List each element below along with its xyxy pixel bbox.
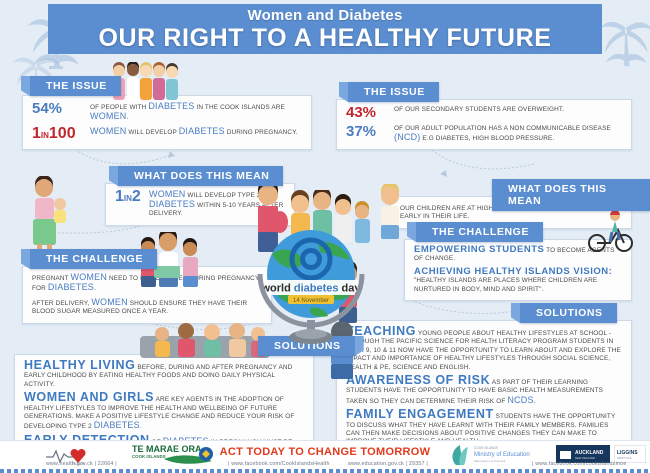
- tab-left-what-does-this-mean[interactable]: WHAT DOES THIS MEAN: [118, 166, 283, 186]
- solution-left-item-2: WOMEN AND GIRLS ARE KEY AGENTS IN THE AD…: [24, 393, 304, 432]
- stat-100-lead: 1: [32, 125, 41, 142]
- stat-2-lead: 1: [115, 188, 124, 205]
- globe-date: 14 November: [293, 298, 329, 304]
- svg-text:NEW ZEALAND: NEW ZEALAND: [575, 456, 595, 460]
- stat-text-1-in-100: WOMEN WILL DEVELOP DIABETES DURING PREGN…: [90, 127, 302, 137]
- cl2-h1: WOMEN: [91, 297, 128, 307]
- cl1-h2: DIABETES: [48, 282, 94, 292]
- palm-tree-icon-right: [595, 6, 650, 90]
- poster-footer: ACT TODAY TO CHANGE TOMORROW HEALTH TE M…: [0, 440, 650, 473]
- stat-37-h: (NCD): [394, 132, 421, 142]
- tab-right-the-issue[interactable]: THE ISSUE: [348, 82, 439, 102]
- te-marae-ora-logo: TE MARAE ORA COOK ISLANDS Ministry of He…: [128, 443, 218, 467]
- stat-value-37: 37%: [346, 125, 394, 139]
- cr1-lead: EMPOWERING STUDENTS: [414, 244, 544, 255]
- infographic-poster: Women and Diabetes OUR RIGHT TO A HEALTH…: [0, 0, 650, 473]
- svg-text:INSTITUTE: INSTITUTE: [617, 456, 632, 460]
- stat-54-mid: IN THE COOK ISLANDS ARE: [194, 104, 285, 111]
- meaning-left-h1: WOMEN: [149, 189, 186, 199]
- cl1-post: .: [94, 285, 96, 292]
- stat-row-37-percent: 37% OF OUR ADULT POPULATION HAS A NON CO…: [346, 125, 622, 143]
- illustration-family-sofa: [140, 322, 270, 358]
- footer-links-education[interactable]: www.education.gov.ck | 29357 |: [348, 461, 428, 467]
- sr2-tail-h: NCDs: [507, 395, 533, 405]
- connector-right-issue-to-meaning: [430, 148, 540, 178]
- meaning-left-h2: DIABETES: [149, 199, 195, 209]
- tab-left-the-challenge[interactable]: THE CHALLENGE: [30, 249, 157, 269]
- card-right-the-issue: 43% OF OUR SECONDARY STUDENTS ARE OVERWE…: [336, 99, 632, 150]
- stat-2-in: IN: [124, 194, 132, 203]
- poster-header: Women and Diabetes OUR RIGHT TO A HEALTH…: [48, 4, 602, 54]
- stat-100-tail: 100: [49, 125, 76, 142]
- stat-text-37: OF OUR ADULT POPULATION HAS A NON COMMUN…: [394, 125, 622, 143]
- solution-left-item-1: HEALTHY LIVING BEFORE, DURING AND AFTER …: [24, 361, 304, 389]
- stat-value-1-in-2: 1IN2: [115, 190, 149, 206]
- card-right-solutions: TEACHING YOUNG PEOPLE ABOUT HEALTHY LIFE…: [336, 320, 632, 454]
- tab-left-the-issue[interactable]: THE ISSUE: [30, 76, 121, 96]
- stat-row-1-in-100: 1IN100 WOMEN WILL DEVELOP DIABETES DURIN…: [32, 127, 302, 143]
- stat-row-54-percent: 54% OF PEOPLE WITH DIABETES IN THE COOK …: [32, 102, 302, 122]
- stat-value-54: 54%: [32, 102, 90, 116]
- sr2-lead: AWARENESS OF RISK: [346, 373, 490, 387]
- svg-text:TE MARAE ORA: TE MARAE ORA: [132, 444, 202, 454]
- stat-100-in: IN: [41, 131, 49, 140]
- stat-100-mid: WILL DEVELOP: [127, 129, 179, 136]
- challenge-right-item-2: ACHIEVING HEALTHY ISLANDS VISION: "HEALT…: [414, 268, 622, 294]
- solutions-right-body: TEACHING YOUNG PEOPLE ABOUT HEALTHY LIFE…: [346, 327, 622, 447]
- illustration-mother-and-baby: [18, 176, 74, 258]
- challenge-left-line-2: AFTER DELIVERY, WOMEN SHOULD ENSURE THEY…: [32, 298, 262, 317]
- stat-54-post: .: [127, 114, 129, 121]
- stat-37-pre: OF OUR ADULT POPULATION HAS A NON COMMUN…: [394, 125, 611, 132]
- footer-links-health-facebook[interactable]: | www.facebook.com/CookIslandsHealth: [228, 461, 330, 467]
- header-subtitle: Women and Diabetes: [247, 7, 402, 24]
- stat-text-43: OF OUR SECONDARY STUDENTS ARE OVERWEIGHT…: [394, 106, 622, 114]
- cl1-pre: PREGNANT: [32, 275, 71, 282]
- globe-label: world diabetes day: [260, 283, 361, 295]
- stat-value-43: 43%: [346, 106, 394, 120]
- illustration-woman-right-side: [372, 184, 408, 240]
- illustration-cyclist: [584, 208, 636, 252]
- tab-right-solutions[interactable]: SOLUTIONS: [520, 303, 617, 323]
- stat-row-43-percent: 43% OF OUR SECONDARY STUDENTS ARE OVERWE…: [346, 106, 622, 120]
- footer-links-health[interactable]: www.health.gov.ck | 22664 |: [46, 461, 117, 467]
- challenge-right-body: EMPOWERING STUDENTS TO BECOME AGENTS OF …: [414, 246, 622, 294]
- stat-54-pre: OF PEOPLE WITH: [90, 104, 148, 111]
- svg-text:COOK ISLANDS: COOK ISLANDS: [474, 446, 498, 450]
- svg-text:COOK ISLANDS: COOK ISLANDS: [132, 454, 166, 459]
- stat-54-h1: DIABETES: [148, 101, 194, 111]
- sr2-tail: .: [534, 398, 536, 405]
- footer-cta: ACT TODAY TO CHANGE TOMORROW: [220, 446, 431, 458]
- footer-dashed-strip: [0, 469, 650, 473]
- page-title: OUR RIGHT TO A HEALTHY FUTURE: [98, 24, 551, 52]
- tab-right-what-does-this-mean[interactable]: WHAT DOES THIS MEAN: [492, 179, 650, 211]
- stat-value-1-in-100: 1IN100: [32, 127, 90, 143]
- stat-100-h1: WOMEN: [90, 126, 127, 136]
- svg-text:Marurangi o te Pae Apii: Marurangi o te Pae Apii: [474, 459, 506, 463]
- stat-text-54: OF PEOPLE WITH DIABETES IN THE COOK ISLA…: [90, 102, 302, 122]
- stat-2-tail: 2: [132, 188, 141, 205]
- mr-post: EARLY IN THEIR LIFE.: [400, 213, 469, 220]
- sr3-lead: FAMILY ENGAGEMENT: [346, 407, 494, 421]
- stat-100-post: DURING PREGNANCY.: [225, 129, 298, 136]
- stat-54-h2: WOMEN: [90, 111, 127, 121]
- solution-right-item-2: AWARENESS OF RISK AS PART OF THEIR LEARN…: [346, 376, 622, 406]
- cl1-h1: WOMEN: [71, 272, 108, 282]
- stat-100-h2: DIABETES: [179, 126, 225, 136]
- stat-37-post: E.G DIABETES, HIGH BLOOD PRESSURE.: [421, 135, 555, 142]
- sl1-lead: HEALTHY LIVING: [24, 358, 135, 372]
- card-left-the-issue: 54% OF PEOPLE WITH DIABETES IN THE COOK …: [22, 95, 312, 150]
- world-diabetes-day-globe: world diabetes day 14 November: [256, 228, 366, 346]
- solution-right-item-1: TEACHING YOUNG PEOPLE ABOUT HEALTHY LIFE…: [346, 327, 622, 372]
- ministry-of-education-logo: COOK ISLANDS Ministry of Education Marur…: [446, 443, 542, 467]
- cl2-pre: AFTER DELIVERY,: [32, 300, 91, 307]
- sl2-tail: .: [140, 423, 142, 430]
- footer-links-education-facebook[interactable]: | www.facebook.com/cookislandsmoe: [532, 461, 627, 467]
- cr2-lead: ACHIEVING HEALTHY ISLANDS VISION:: [414, 266, 612, 277]
- sl2-tail-h: DIABETES: [94, 420, 140, 430]
- tab-right-the-challenge[interactable]: THE CHALLENGE: [416, 222, 543, 242]
- sl2-lead: WOMEN AND GIRLS: [24, 390, 154, 404]
- cr2-body: "HEALTHY ISLANDS ARE PLACES WHERE CHILDR…: [414, 277, 597, 292]
- svg-text:Ministry of Education: Ministry of Education: [474, 452, 530, 458]
